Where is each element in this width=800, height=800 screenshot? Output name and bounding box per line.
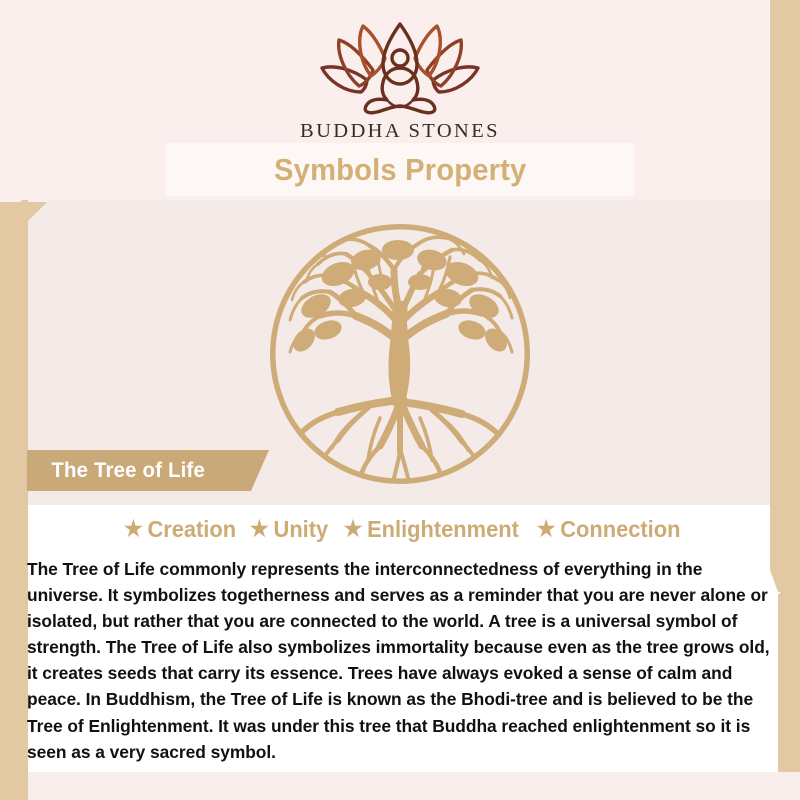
star-icon: ★ — [250, 518, 269, 540]
page-title: Symbols Property — [274, 152, 526, 188]
star-icon: ★ — [537, 518, 556, 540]
keyword-item-enlightenment: ★ Enlightenment — [344, 516, 519, 543]
keyword-list: ★ Creation ★ Unity ★ Enlightenment ★ Con… — [27, 516, 778, 543]
title-banner: Symbols Property — [165, 143, 635, 196]
keyword-item-unity: ★ Unity — [250, 516, 328, 543]
keyword-label: Creation — [147, 516, 236, 543]
star-icon: ★ — [124, 518, 143, 540]
keyword-label: Enlightenment — [367, 516, 519, 543]
keyword-label: Unity — [274, 516, 329, 543]
background-footer-strip — [27, 772, 800, 800]
tree-of-life-icon — [268, 222, 532, 486]
keyword-item-connection: ★ Connection — [537, 516, 681, 543]
brand-name: BUDDHA STONES — [0, 120, 800, 143]
description-paragraph: The Tree of Life commonly represents the… — [27, 556, 783, 765]
star-icon: ★ — [344, 518, 363, 540]
infographic-page: BUDDHA STONES Symbols Property — [0, 0, 800, 800]
border-band-left — [0, 200, 28, 800]
section-ribbon-label: The Tree of Life — [51, 459, 205, 483]
keyword-item-creation: ★ Creation — [124, 516, 236, 543]
keyword-label: Connection — [560, 516, 680, 543]
lotus-meditation-icon — [315, 18, 485, 116]
brand-logo: BUDDHA STONES — [0, 18, 800, 143]
section-ribbon: The Tree of Life — [27, 450, 269, 491]
